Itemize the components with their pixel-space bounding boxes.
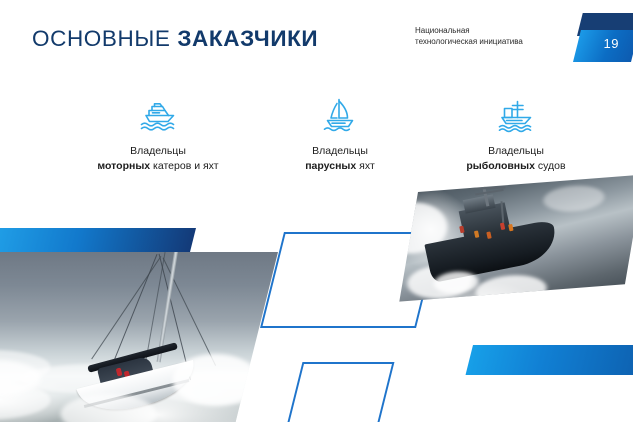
- segment-label-bold: парусных: [305, 160, 356, 172]
- segment-label-line1: Владельцы: [312, 145, 368, 157]
- brand-block: Национальная технологическая инициатива: [415, 25, 550, 47]
- page-title: ОСНОВНЫЕ ЗАКАЗЧИКИ: [32, 26, 318, 52]
- segment-label-rest: яхт: [356, 160, 375, 172]
- segment-label-line1: Владельцы: [130, 145, 186, 157]
- sailboat-icon: [240, 92, 440, 136]
- page-number-badge: 19: [553, 13, 633, 69]
- sailing-yacht-in-storm-photo: [0, 252, 278, 422]
- segment-label-bold: рыболовных: [466, 160, 535, 172]
- segment-label: Владельцы рыболовных судов: [416, 144, 616, 173]
- motor-yacht-icon: [58, 92, 258, 136]
- brand-line-2: технологическая инициатива: [415, 36, 550, 47]
- slide-graphic-composition: [0, 0, 633, 422]
- blue-outline-parallelogram-lower: [282, 362, 395, 422]
- segment-label-rest: катеров и яхт: [150, 160, 218, 172]
- fishing-vessel-icon: [416, 92, 616, 136]
- segment-label-line1: Владельцы: [488, 145, 544, 157]
- segment-motor-yachts: Владельцы моторных катеров и яхт: [58, 92, 258, 173]
- segment-label: Владельцы моторных катеров и яхт: [58, 144, 258, 173]
- segment-label-bold: моторных: [97, 160, 150, 172]
- segment-sailing-yachts: Владельцы парусных яхт: [240, 92, 440, 173]
- segment-label: Владельцы парусных яхт: [240, 144, 440, 173]
- customer-segments: Владельцы моторных катеров и яхт Владель…: [0, 92, 633, 182]
- blue-gradient-bar-right: [466, 345, 633, 375]
- page-number: 19: [604, 36, 619, 51]
- segment-label-rest: судов: [535, 160, 566, 172]
- segment-fishing-vessels: Владельцы рыболовных судов: [416, 92, 616, 173]
- page-title-light: ОСНОВНЫЕ: [32, 26, 170, 51]
- presentation-slide: ОСНОВНЫЕ ЗАКАЗЧИКИ Национальная технолог…: [0, 0, 633, 422]
- fishing-trawler-in-storm-photo: [399, 175, 633, 302]
- brand-line-1: Национальная: [415, 25, 550, 36]
- page-title-bold: ЗАКАЗЧИКИ: [177, 26, 318, 51]
